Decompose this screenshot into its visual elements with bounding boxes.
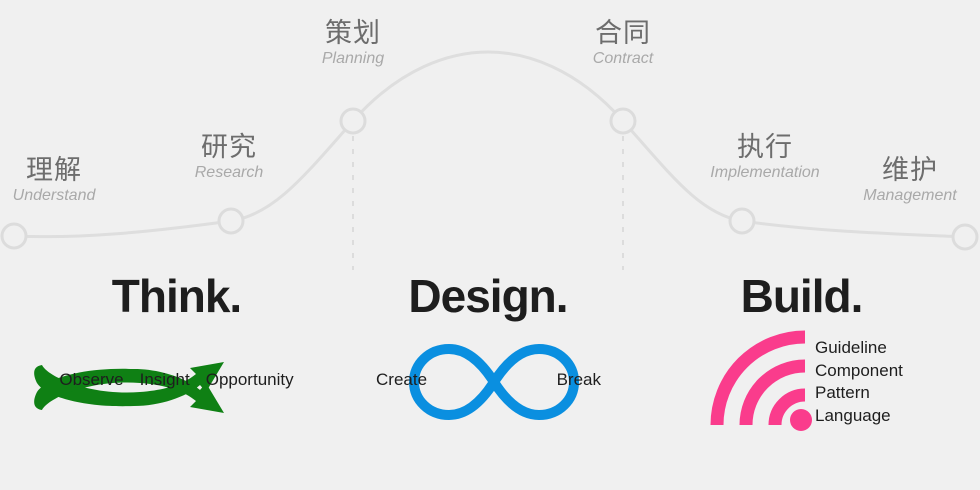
stage-label-implementation: 执行 Implementation <box>680 132 850 184</box>
build-item-guideline: Guideline <box>815 337 903 360</box>
stage-cn-implementation: 执行 <box>680 132 850 163</box>
stage-en-management: Management <box>840 186 980 207</box>
build-item-component: Component <box>815 360 903 383</box>
infinity-path <box>414 349 574 415</box>
signal-dot <box>790 409 812 431</box>
stage-cn-understand: 理解 <box>0 155 108 186</box>
roadmap-node-management[interactable] <box>953 225 977 249</box>
stage-label-management: 维护 Management <box>840 155 980 207</box>
stage-cn-research: 研究 <box>170 132 288 163</box>
stage-cn-planning: 策划 <box>296 18 410 49</box>
stage-en-planning: Planning <box>296 49 410 70</box>
design-label-break: Break <box>557 370 601 390</box>
roadmap-node-planning[interactable] <box>341 109 365 133</box>
panel-build: Build. Guideline Component Pattern Langu… <box>623 265 980 490</box>
build-item-pattern: Pattern <box>815 382 903 405</box>
signal-waves-icon <box>623 325 980 435</box>
stage-label-contract: 合同 Contract <box>566 18 680 70</box>
panel-think: Think. Observe Insight Opportunity <box>0 265 353 490</box>
think-word-opportunity: Opportunity <box>206 370 294 390</box>
roadmap-node-contract[interactable] <box>611 109 635 133</box>
roadmap-node-implementation[interactable] <box>730 209 754 233</box>
stage-en-implementation: Implementation <box>680 163 850 184</box>
stage-label-research: 研究 Research <box>170 132 288 184</box>
stage-label-understand: 理解 Understand <box>0 155 108 207</box>
stage-cn-contract: 合同 <box>566 18 680 49</box>
stage-en-research: Research <box>170 163 288 184</box>
roadmap-node-understand[interactable] <box>2 224 26 248</box>
think-word-observe: Observe <box>59 370 123 390</box>
roadmap-node-research[interactable] <box>219 209 243 233</box>
panel-title-build: Build. <box>623 273 980 319</box>
panel-title-think: Think. <box>0 273 353 319</box>
stage-cn-management: 维护 <box>840 155 980 186</box>
stage-en-understand: Understand <box>0 186 108 207</box>
stage-label-planning: 策划 Planning <box>296 18 410 70</box>
think-word-list: Observe Insight Opportunity <box>0 370 353 390</box>
diagram-canvas: 理解 Understand 研究 Research 策划 Planning 合同… <box>0 0 980 490</box>
panel-design: Design. Create Break <box>353 265 623 490</box>
build-item-list: Guideline Component Pattern Language <box>815 337 903 427</box>
panel-title-design: Design. <box>353 273 623 319</box>
build-item-language: Language <box>815 405 903 428</box>
stage-en-contract: Contract <box>566 49 680 70</box>
think-word-insight: Insight <box>140 370 190 390</box>
design-label-create: Create <box>376 370 427 390</box>
